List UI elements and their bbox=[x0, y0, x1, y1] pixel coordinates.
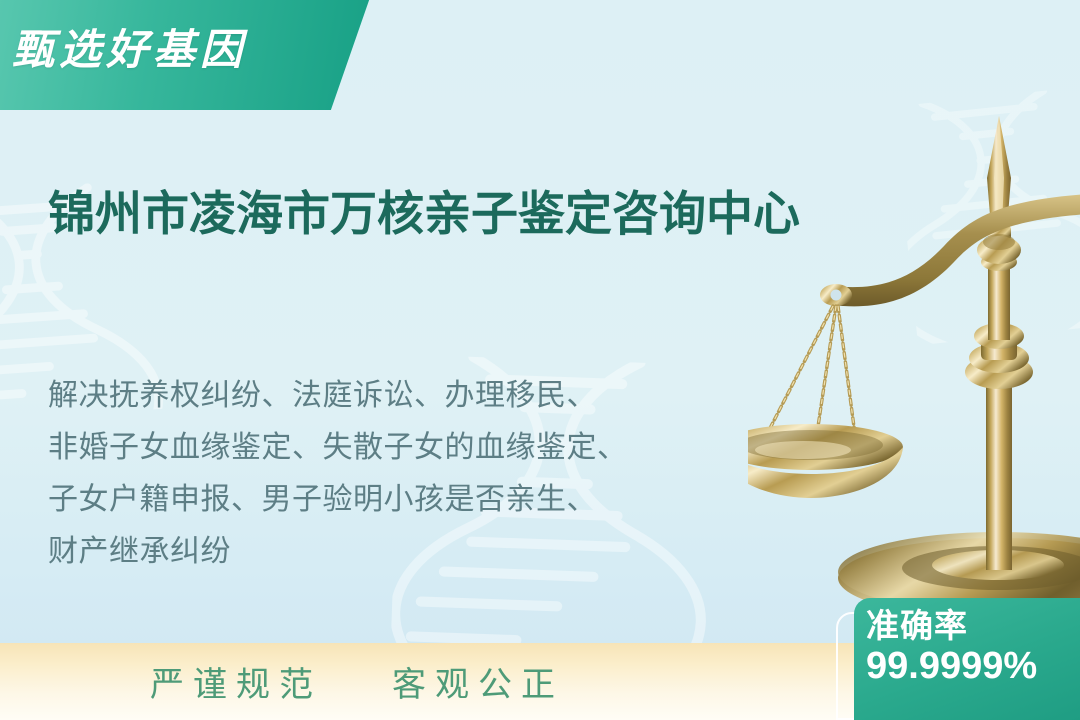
description-line: 子女户籍申报、男子验明小孩是否亲生、 bbox=[48, 474, 738, 526]
accuracy-badge-panel: 准确率 99.9999% bbox=[854, 598, 1080, 720]
accuracy-badge-value: 99.9999% bbox=[866, 645, 1080, 689]
page-title: 锦州市凌海市万核亲子鉴定咨询中心 bbox=[48, 183, 848, 245]
description-line: 非婚子女血缘鉴定、失散子女的血缘鉴定、 bbox=[48, 422, 738, 474]
description-line: 财产继承纠纷 bbox=[48, 526, 738, 578]
dna-helix-watermark-right bbox=[893, 85, 1080, 346]
brand-logo-banner: 甄选好基因 bbox=[0, 0, 374, 110]
brand-logo-text: 甄选好基因 bbox=[12, 16, 247, 77]
slogan-objective: 客观公正 bbox=[392, 657, 564, 706]
slogan-rigorous: 严谨规范 bbox=[150, 657, 322, 706]
accuracy-badge: 准确率 99.9999% bbox=[836, 598, 1080, 720]
accuracy-badge-label: 准确率 bbox=[866, 608, 1080, 645]
poster-canvas: 甄选好基因 bbox=[0, 0, 1080, 720]
description-line: 解决抚养权纠纷、法庭诉讼、办理移民、 bbox=[48, 370, 738, 422]
slogan-group: 严谨规范 客观公正 bbox=[150, 643, 564, 720]
service-description: 解决抚养权纠纷、法庭诉讼、办理移民、 非婚子女血缘鉴定、失散子女的血缘鉴定、 子… bbox=[48, 370, 738, 578]
